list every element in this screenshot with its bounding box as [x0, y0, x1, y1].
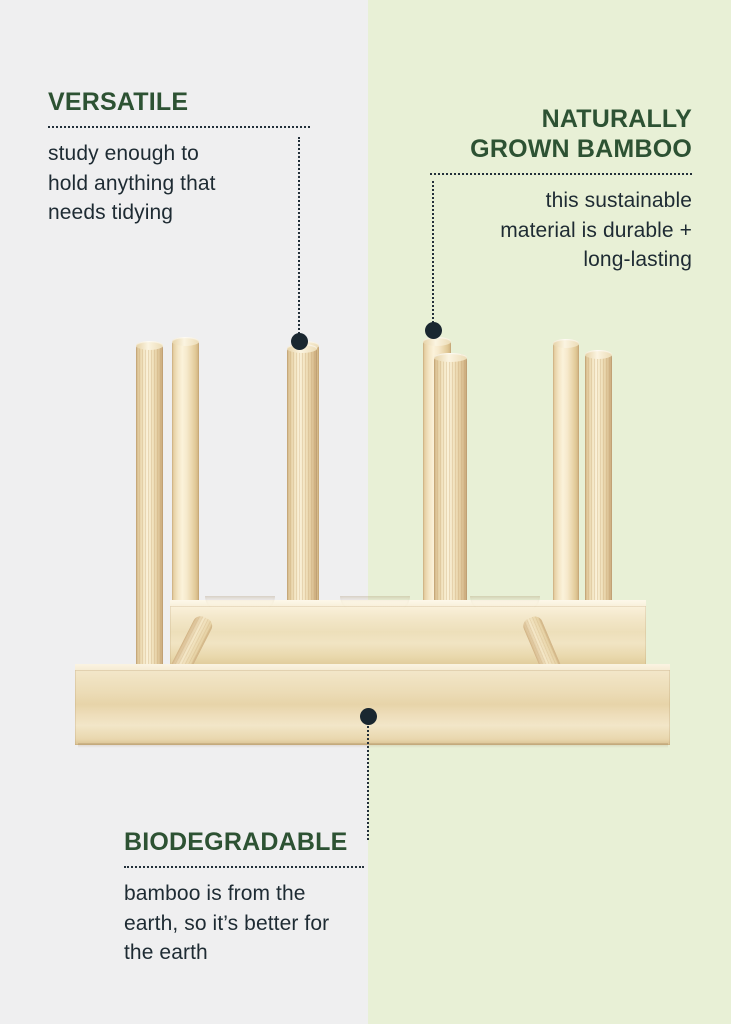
- rail-notch-3: [470, 596, 540, 612]
- callout-biodegradable-body-line-3: the earth: [124, 941, 208, 964]
- dowel-1: [136, 342, 163, 682]
- leader-line-biodegradable: [367, 722, 369, 840]
- callout-bamboo-title: NATURALLY GROWN BAMBOO: [430, 104, 692, 164]
- callout-bamboo-body-line-3: long-lasting: [583, 248, 692, 271]
- callout-biodegradable-divider: [124, 866, 364, 868]
- callout-versatile-body-line-3: needs tidying: [48, 201, 173, 224]
- callout-bamboo-body-line-1: this sustainable: [546, 189, 692, 212]
- callout-versatile-body-line-2: hold anything that: [48, 172, 216, 195]
- callout-versatile-title: VERSATILE: [48, 88, 310, 117]
- leader-dot-bamboo: [425, 322, 442, 339]
- callout-bamboo-divider: [430, 173, 692, 175]
- callout-bamboo-body: this sustainable material is durable + l…: [430, 186, 692, 275]
- product-image-bamboo-dish-rack: [0, 320, 731, 760]
- callout-bamboo-title-line-2: GROWN BAMBOO: [470, 135, 692, 163]
- callout-bamboo-title-line-1: NATURALLY: [542, 105, 692, 133]
- base-drop-shadow: [78, 743, 668, 748]
- callout-naturally-grown-bamboo: NATURALLY GROWN BAMBOO this sustainable …: [430, 104, 692, 275]
- leader-dot-versatile: [291, 333, 308, 350]
- callout-versatile-body-line-1: study enough to: [48, 142, 199, 165]
- callout-versatile-body: study enough to hold anything that needs…: [48, 139, 310, 228]
- callout-biodegradable-body-line-2: earth, so it’s better for: [124, 912, 329, 935]
- callout-biodegradable-body-line-1: bamboo is from the: [124, 882, 306, 905]
- callout-biodegradable-body: bamboo is from the earth, so it’s better…: [124, 879, 364, 968]
- leader-dot-biodegradable: [360, 708, 377, 725]
- top-rail: [170, 606, 646, 668]
- base-plank: [75, 670, 670, 745]
- callout-biodegradable: BIODEGRADABLE bamboo is from the earth, …: [124, 828, 364, 968]
- callout-bamboo-body-line-2: material is durable +: [500, 219, 692, 242]
- rail-notch-2: [340, 596, 410, 612]
- callout-versatile: VERSATILE study enough to hold anything …: [48, 88, 310, 228]
- callout-versatile-divider: [48, 126, 310, 128]
- callout-biodegradable-title: BIODEGRADABLE: [124, 828, 364, 857]
- rail-notch-1: [205, 596, 275, 612]
